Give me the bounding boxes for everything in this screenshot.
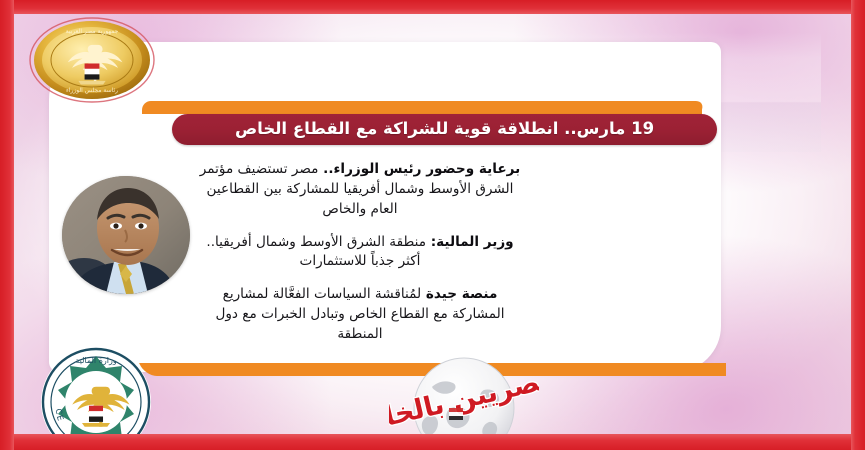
- paragraph-2-lead: وزير المالية:: [426, 234, 514, 250]
- orange-accent-top: [142, 101, 702, 114]
- egyptians-abroad-watermark-logo: المصريين بالخارج: [389, 350, 539, 434]
- frame-border-left: [0, 0, 14, 450]
- poster-canvas: 19 مارس.. انطلاقة قوية للشراكة مع القطاع…: [14, 14, 851, 434]
- svg-text:جمهورية مصر العربية: جمهورية مصر العربية: [66, 28, 119, 35]
- paragraph-1-lead: برعاية وحضور رئيس الوزراء..: [318, 161, 520, 177]
- title-banner: 19 مارس.. انطلاقة قوية للشراكة مع القطاع…: [172, 114, 717, 145]
- title-banner-text: 19 مارس.. انطلاقة قوية للشراكة مع القطاع…: [235, 121, 654, 138]
- paragraph-3-lead: منصة جيدة: [421, 286, 497, 302]
- paragraph-3: منصة جيدة لمُناقشة السياسات الفعَّالة لم…: [199, 285, 521, 345]
- frame-border-top: [0, 0, 865, 14]
- svg-text:رئاسة مجلس الوزراء: رئاسة مجلس الوزراء: [66, 87, 118, 94]
- cabinet-seal-logo: جمهورية مصر العربية رئاسة مجلس الوزراء: [22, 16, 162, 104]
- ministry-of-finance-logo: وزارة المالية MINISTRY OF FINANCE: [40, 346, 152, 434]
- paragraph-2-rest: منطقة الشرق الأوسط وشمال أفريقيا.. أكثر …: [206, 234, 426, 270]
- finance-minister-portrait: [62, 176, 190, 294]
- svg-text:وزارة المالية: وزارة المالية: [75, 356, 117, 365]
- paragraph-1: برعاية وحضور رئيس الوزراء.. مصر تستضيف م…: [199, 160, 521, 220]
- frame-border-bottom: [0, 434, 865, 450]
- poster-root: 19 مارس.. انطلاقة قوية للشراكة مع القطاع…: [0, 0, 865, 450]
- frame-border-right: [851, 0, 865, 450]
- paragraph-2: وزير المالية: منطقة الشرق الأوسط وشمال أ…: [199, 233, 521, 273]
- body-text-column: برعاية وحضور رئيس الوزراء.. مصر تستضيف م…: [199, 160, 521, 345]
